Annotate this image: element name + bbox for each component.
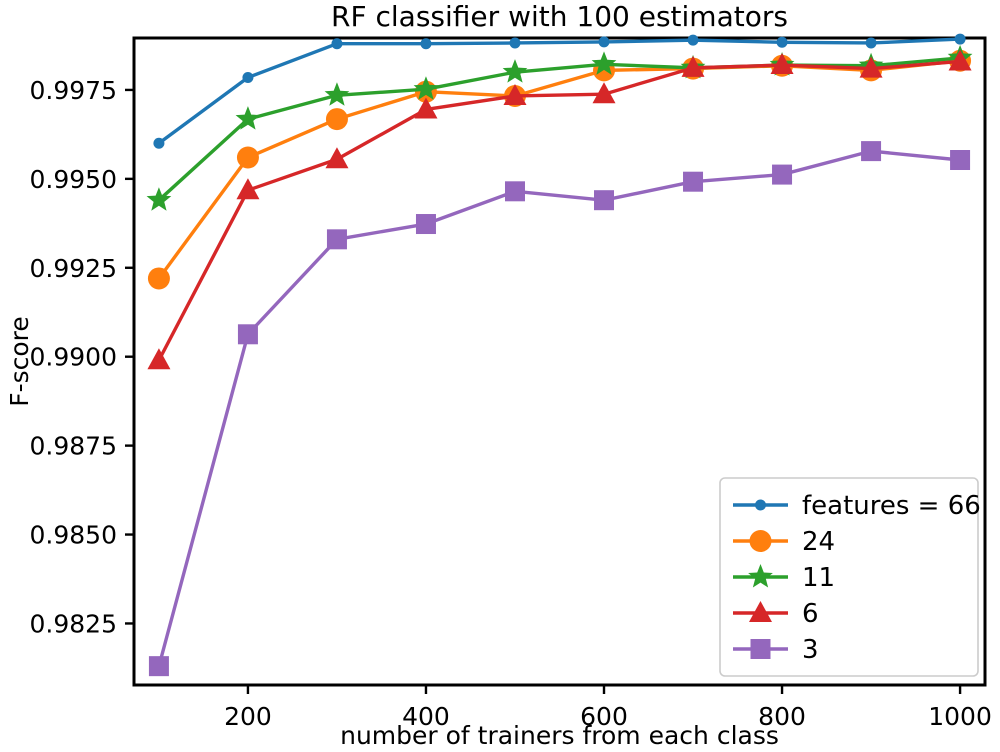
data-point-marker (777, 37, 788, 48)
data-point-marker (327, 229, 347, 249)
x-tick-label: 200 (224, 702, 272, 731)
data-point-marker (238, 324, 258, 344)
data-point-marker (955, 34, 966, 45)
y-tick-label: 0.9825 (30, 609, 117, 638)
data-point-marker (950, 150, 970, 170)
legend-item-label: 24 (802, 527, 835, 557)
data-point-marker (751, 639, 771, 659)
y-tick-label: 0.9900 (30, 343, 117, 372)
data-point-marker (326, 108, 348, 130)
legend-item-label: 6 (802, 599, 819, 629)
x-tick-label: 1000 (928, 702, 992, 731)
data-point-marker (755, 500, 766, 511)
legend-item-label: 11 (802, 563, 835, 593)
data-point-marker (772, 165, 792, 185)
y-tick-label: 0.9925 (30, 254, 117, 283)
data-point-marker (420, 38, 431, 49)
y-tick-label: 0.9850 (30, 521, 117, 550)
data-point-marker (505, 181, 525, 201)
data-point-marker (237, 147, 259, 169)
data-point-marker (866, 37, 877, 48)
y-tick-label: 0.9950 (30, 165, 117, 194)
data-point-marker (750, 530, 772, 552)
data-point-marker (594, 190, 614, 210)
data-point-marker (861, 141, 881, 161)
data-point-marker (688, 35, 699, 46)
legend: features = 66241163 (720, 478, 981, 676)
data-point-marker (148, 267, 170, 289)
chart-figure: 20040060080010000.98250.98500.98750.9900… (0, 0, 1000, 752)
x-axis-title: number of trainers from each class (340, 721, 779, 750)
data-point-marker (416, 214, 436, 234)
line-chart: 20040060080010000.98250.98500.98750.9900… (0, 0, 1000, 752)
data-point-marker (683, 172, 703, 192)
data-point-marker (331, 38, 342, 49)
data-point-marker (149, 656, 169, 676)
data-point-marker (509, 37, 520, 48)
legend-item-label: 3 (802, 635, 819, 665)
y-axis-title: F-score (5, 316, 34, 407)
data-point-marker (153, 138, 164, 149)
legend-item-label: features = 66 (802, 491, 981, 521)
y-tick-label: 0.9975 (30, 76, 117, 105)
data-point-marker (599, 36, 610, 47)
y-tick-label: 0.9875 (30, 432, 117, 461)
data-point-marker (242, 72, 253, 83)
chart-title: RF classifier with 100 estimators (331, 0, 788, 33)
